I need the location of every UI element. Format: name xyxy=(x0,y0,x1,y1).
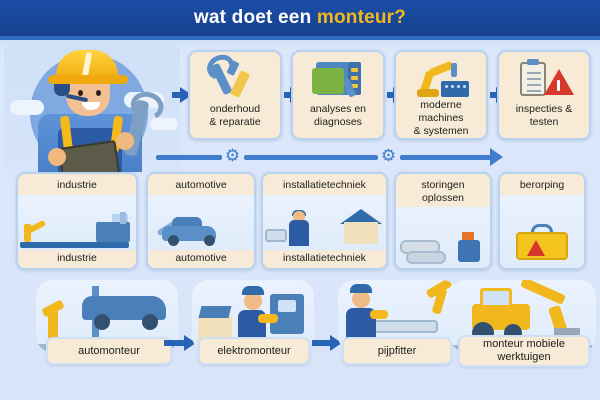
top-card-machines[interactable]: moderne machines & systemen xyxy=(394,50,488,140)
mid-card-label-top: berorping xyxy=(520,179,564,192)
mid-card-label-top: storingen oplossen xyxy=(421,179,464,204)
header-bar: wat doet een monteur? xyxy=(0,0,600,36)
title-plain: wat doet een xyxy=(194,7,317,28)
gear-icon: ⚙ xyxy=(224,147,241,164)
mid-card-label-bottom: installatietechniek xyxy=(283,250,366,268)
top-card-label: inspecties & testen xyxy=(513,103,576,129)
car-hood-icon xyxy=(148,195,254,251)
connector-line xyxy=(156,155,222,160)
bottom-card-label: monteur mobiele werktuigen xyxy=(458,335,590,367)
mid-card-automotive[interactable]: automotive automotive xyxy=(146,172,256,270)
cloud-icon xyxy=(10,100,44,115)
connector-line xyxy=(400,155,492,160)
bottom-card-label: pijpfitter xyxy=(342,337,452,365)
top-card-onderhoud[interactable]: onderhoud & reparatie xyxy=(188,50,282,140)
bottom-card-label: elektromonteur xyxy=(198,337,310,365)
mid-card-berorping[interactable]: berorping xyxy=(498,172,586,270)
house-installer-icon xyxy=(263,195,386,251)
cloud-icon xyxy=(150,118,178,130)
mid-card-label-bottom: automotive xyxy=(175,250,226,268)
wrench-screwdriver-icon xyxy=(205,59,265,99)
toolbox-warning-icon xyxy=(500,195,584,269)
mid-card-storingen[interactable]: storingen oplossen xyxy=(394,172,492,270)
worker-hand xyxy=(116,132,134,150)
worker-eye xyxy=(96,90,101,96)
infographic-page: wat doet een monteur? onderhoud & re xyxy=(0,0,600,400)
mid-card-label-top: automotive xyxy=(175,179,226,192)
robot-arm-machine-icon xyxy=(411,59,471,95)
connector-line xyxy=(244,155,378,160)
hard-hat-brim xyxy=(48,75,128,84)
mid-card-installatietechniek[interactable]: installatietechniek installatietechniek xyxy=(261,172,388,270)
top-card-label: analyses en diagnoses xyxy=(307,103,369,129)
mid-card-label-bottom: industrie xyxy=(57,250,97,268)
clipboard-warning-icon xyxy=(514,59,574,99)
top-card-analyses[interactable]: analyses en diagnoses xyxy=(291,50,385,140)
worker-eye xyxy=(78,90,83,96)
mid-card-label-top: installatietechniek xyxy=(283,179,366,192)
factory-robot-icon xyxy=(18,195,136,251)
worker-hand xyxy=(48,148,66,166)
bottom-card-label: automonteur xyxy=(46,337,172,365)
page-title: wat doet een monteur? xyxy=(194,7,406,29)
top-card-label: onderhoud & reparatie xyxy=(206,103,263,129)
gear-icon: ⚙ xyxy=(380,147,397,164)
top-card-inspecties[interactable]: inspecties & testen xyxy=(497,50,591,140)
title-accent: monteur? xyxy=(317,7,406,28)
folder-diagnostics-icon xyxy=(308,59,368,99)
connector-arrow-icon xyxy=(490,148,503,166)
mid-card-industrie[interactable]: industrie industrie xyxy=(16,172,138,270)
top-card-label: moderne machines & systemen xyxy=(396,99,486,138)
flow-arrow-tail xyxy=(164,340,186,346)
pipes-machine-icon xyxy=(396,207,490,268)
hero-illustration xyxy=(4,44,180,172)
mid-card-label-top: industrie xyxy=(57,179,97,192)
flow-arrow-tail xyxy=(312,340,332,346)
